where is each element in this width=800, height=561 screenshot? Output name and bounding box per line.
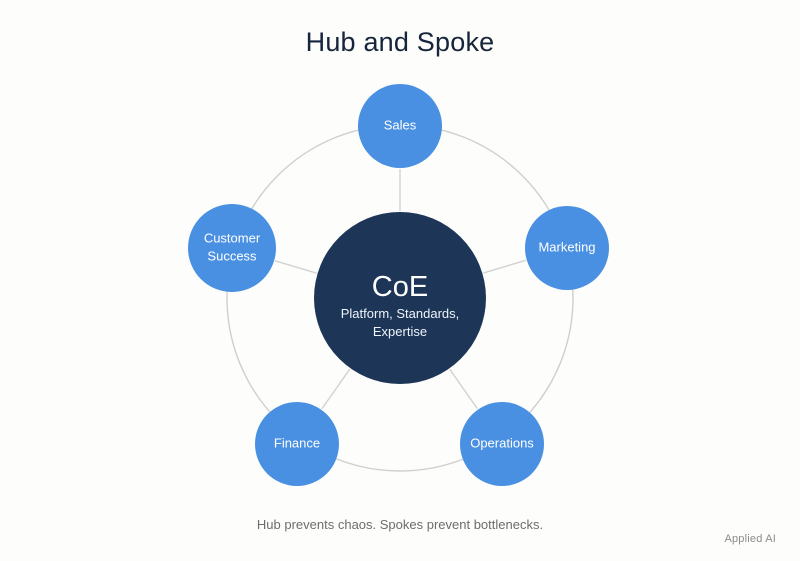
hub-node[interactable]: CoE Platform, Standards, Expertise xyxy=(314,212,486,384)
hub-subtitle-line-2: Expertise xyxy=(373,324,427,339)
spoke-node-customer-success[interactable]: CustomerSuccess xyxy=(188,204,276,292)
spoke-label-finance: Finance xyxy=(274,435,320,450)
hub-subtitle-line-1: Platform, Standards, xyxy=(341,306,460,321)
connector-customer-success xyxy=(275,261,316,273)
spoke-label-customer-success-line-1: Customer xyxy=(204,230,261,245)
connector-operations xyxy=(450,369,478,408)
spoke-node-sales[interactable]: Sales xyxy=(358,84,442,168)
slide-canvas: Hub and Spoke CoE Platform, Standards, E… xyxy=(0,0,800,561)
connector-finance xyxy=(322,369,350,409)
diagram-svg: CoE Platform, Standards, Expertise Sales… xyxy=(0,0,800,500)
spoke-node-operations[interactable]: Operations xyxy=(460,402,544,486)
connector-marketing xyxy=(483,260,525,273)
brand-label: Applied AI xyxy=(724,533,776,545)
spoke-label-customer-success-line-2: Success xyxy=(207,248,257,263)
spoke-label-marketing: Marketing xyxy=(538,239,595,254)
spoke-label-operations: Operations xyxy=(470,435,534,450)
spoke-node-finance[interactable]: Finance xyxy=(255,402,339,486)
spoke-node-marketing[interactable]: Marketing xyxy=(525,206,609,290)
hub-label: CoE xyxy=(372,271,428,303)
hub-and-spoke-diagram: CoE Platform, Standards, Expertise Sales… xyxy=(0,0,800,500)
spoke-label-sales: Sales xyxy=(384,117,417,132)
diagram-caption: Hub prevents chaos. Spokes prevent bottl… xyxy=(0,516,800,534)
